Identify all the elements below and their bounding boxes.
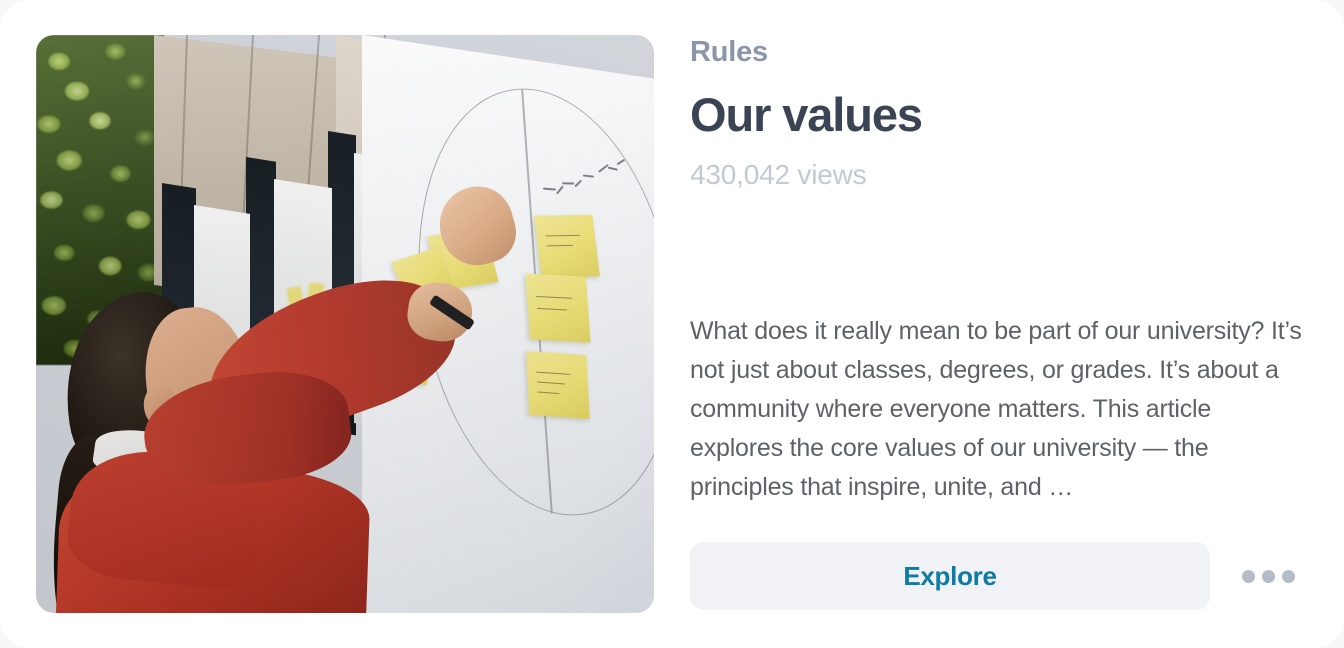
photo-illustration (36, 35, 654, 613)
article-summary: What does it really mean to be part of o… (690, 312, 1306, 507)
explore-button[interactable]: Explore (690, 542, 1210, 610)
dot-icon (1282, 570, 1295, 583)
view-count: 430,042 views (690, 158, 866, 192)
article-card: Rules Our values 430,042 views What does… (0, 0, 1344, 648)
dot-icon (1242, 570, 1255, 583)
article-content: Rules Our values 430,042 views What does… (690, 0, 1310, 648)
photo-overlay (36, 35, 654, 613)
page-title: Our values (690, 88, 922, 142)
more-options-icon[interactable] (1240, 548, 1296, 604)
article-image[interactable] (36, 35, 654, 613)
action-bar: Explore (690, 542, 1310, 610)
dot-icon (1262, 570, 1275, 583)
article-category: Rules (690, 38, 768, 67)
